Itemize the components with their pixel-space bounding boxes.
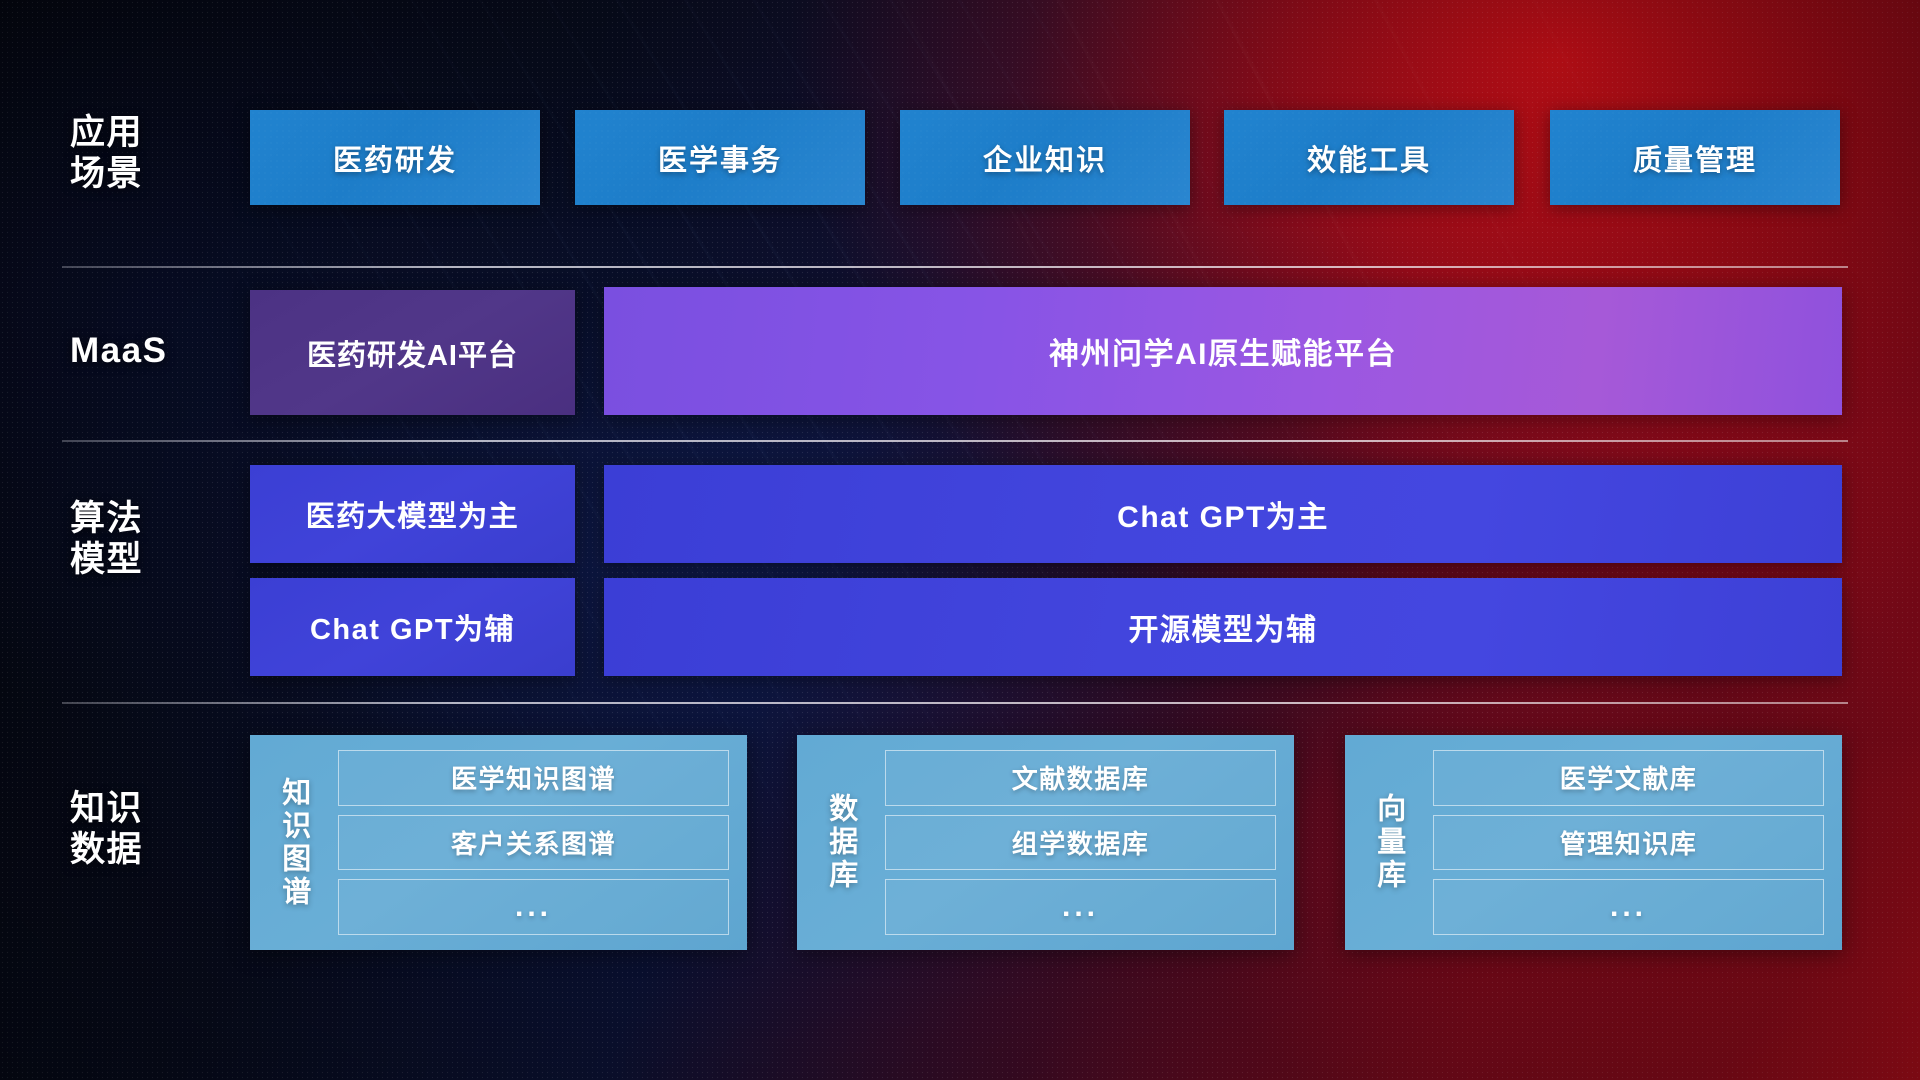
knowledge-item[interactable]: 客户关系图谱 (338, 815, 729, 871)
row-label-line: 应用 (70, 112, 210, 153)
knowledge-item-more[interactable]: ... (885, 879, 1276, 935)
knowledge-item[interactable]: 组学数据库 (885, 815, 1276, 871)
divider-3 (62, 702, 1848, 704)
algorithm-box-right-secondary[interactable]: 开源模型为辅 (604, 578, 1842, 676)
algorithm-box-label: Chat GPT为主 (1117, 492, 1329, 536)
maas-box-label: 神州问学AI原生赋能平台 (1049, 329, 1397, 373)
divider-2 (62, 440, 1848, 442)
maas-box-shenzhou-wenxue-platform[interactable]: 神州问学AI原生赋能平台 (604, 287, 1842, 415)
knowledge-group-vector-store[interactable]: 向量库 医学文献库 管理知识库 ... (1345, 735, 1842, 950)
row-label-line: MaaS (70, 330, 210, 371)
row-label-knowledge-data: 知识 数据 (70, 788, 210, 871)
row-label-algorithm-models: 算法 模型 (70, 498, 210, 581)
app-card-1[interactable]: 医药研发 (250, 110, 540, 205)
algorithm-box-left-secondary[interactable]: Chat GPT为辅 (250, 578, 575, 676)
knowledge-group-database[interactable]: 数据库 文献数据库 组学数据库 ... (797, 735, 1294, 950)
knowledge-item-more[interactable]: ... (1433, 879, 1824, 935)
app-card-3[interactable]: 企业知识 (900, 110, 1190, 205)
maas-box-pharma-ai-platform[interactable]: 医药研发AI平台 (250, 290, 575, 415)
knowledge-group-label: 向量库 (1357, 747, 1419, 938)
knowledge-group-items: 医学知识图谱 客户关系图谱 ... (324, 747, 733, 938)
knowledge-group-label: 知识图谱 (262, 747, 324, 938)
row-label-line: 模型 (70, 539, 210, 580)
knowledge-group-items: 文献数据库 组学数据库 ... (871, 747, 1280, 938)
architecture-diagram: 应用 场景 医药研发 医学事务 企业知识 效能工具 质量管理 MaaS (0, 0, 1920, 1080)
knowledge-item[interactable]: 医学知识图谱 (338, 750, 729, 806)
row-label-application-scenarios: 应用 场景 (70, 112, 210, 195)
knowledge-item[interactable]: 医学文献库 (1433, 750, 1824, 806)
app-card-label: 企业知识 (983, 137, 1107, 179)
app-card-label: 质量管理 (1633, 137, 1757, 179)
algorithm-box-label: 医药大模型为主 (306, 493, 520, 535)
row-label-line: 数据 (70, 829, 210, 870)
knowledge-item[interactable]: 管理知识库 (1433, 815, 1824, 871)
algorithm-box-label: Chat GPT为辅 (310, 606, 515, 648)
knowledge-item-more[interactable]: ... (338, 879, 729, 935)
knowledge-group-items: 医学文献库 管理知识库 ... (1419, 747, 1828, 938)
row-label-line: 算法 (70, 498, 210, 539)
algorithm-box-right-primary[interactable]: Chat GPT为主 (604, 465, 1842, 563)
row-label-line: 场景 (70, 153, 210, 194)
algorithm-box-label: 开源模型为辅 (1129, 605, 1318, 649)
app-card-2[interactable]: 医学事务 (575, 110, 865, 205)
knowledge-group-label: 数据库 (809, 747, 871, 938)
app-card-5[interactable]: 质量管理 (1550, 110, 1840, 205)
divider-1 (62, 266, 1848, 268)
app-card-4[interactable]: 效能工具 (1224, 110, 1514, 205)
app-card-label: 医学事务 (658, 137, 782, 179)
app-card-label: 医药研发 (333, 137, 457, 179)
knowledge-item[interactable]: 文献数据库 (885, 750, 1276, 806)
row-label-maas: MaaS (70, 330, 210, 371)
maas-box-label: 医药研发AI平台 (307, 332, 518, 374)
knowledge-group-knowledge-graph[interactable]: 知识图谱 医学知识图谱 客户关系图谱 ... (250, 735, 747, 950)
row-label-line: 知识 (70, 788, 210, 829)
algorithm-box-left-primary[interactable]: 医药大模型为主 (250, 465, 575, 563)
app-card-label: 效能工具 (1307, 137, 1431, 179)
